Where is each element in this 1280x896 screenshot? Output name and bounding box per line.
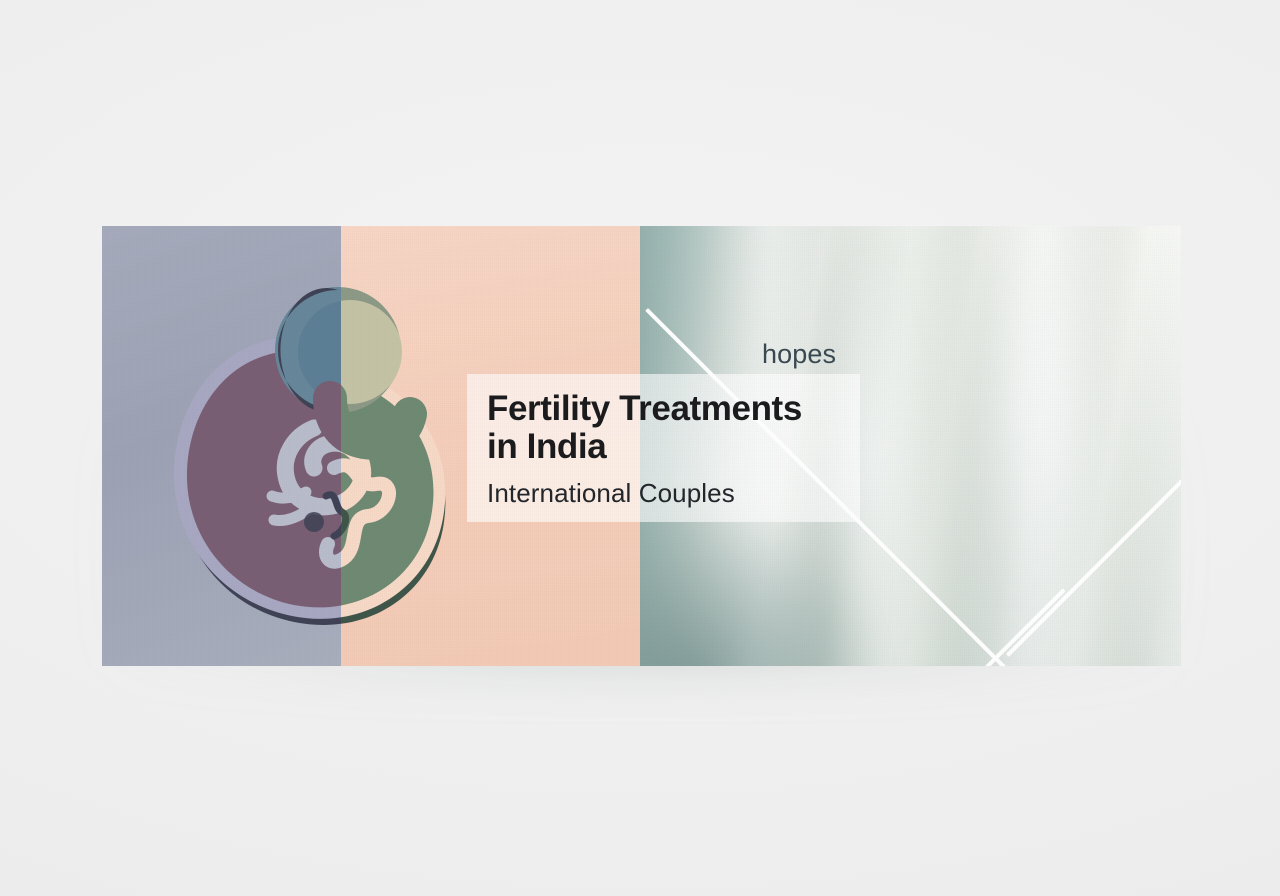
page-subtitle: International Couples — [487, 478, 857, 508]
banner-card: hopes Fertility Treatments in India Inte… — [102, 226, 1181, 666]
title-block: Fertility Treatments in India Internatio… — [487, 390, 857, 508]
embryo-illustration — [162, 260, 492, 660]
page-title: Fertility Treatments in India — [487, 390, 857, 466]
floating-word-hopes: hopes — [762, 339, 836, 370]
